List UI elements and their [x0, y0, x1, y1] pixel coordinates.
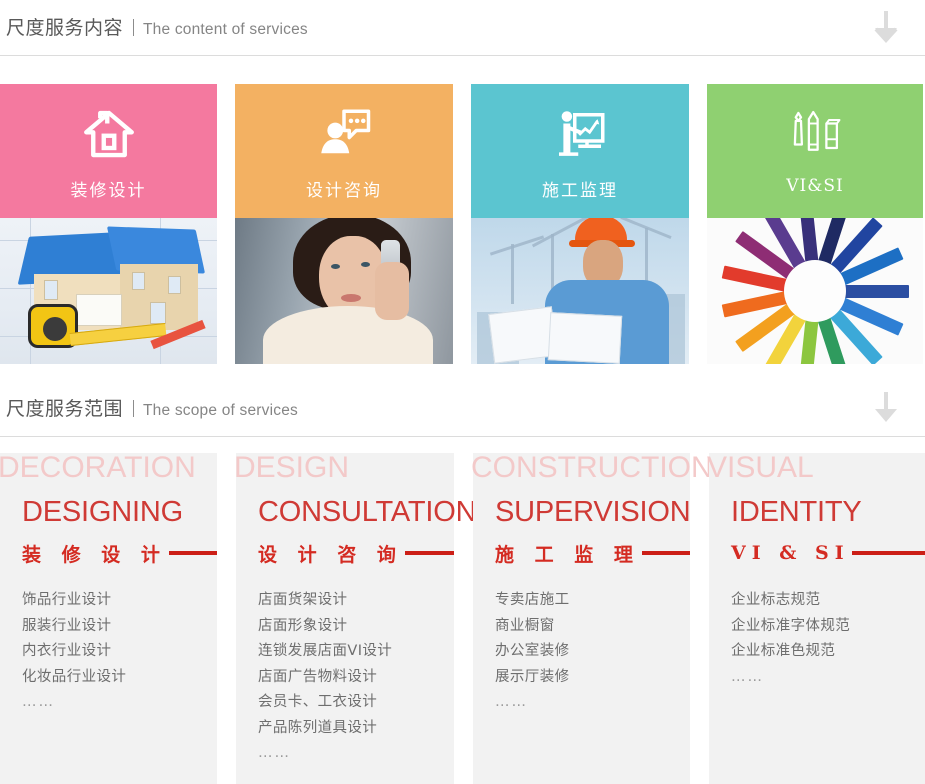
list-item: 企业标准色规范: [731, 639, 925, 665]
scope-title-en: DESIGNING: [22, 495, 217, 529]
title-divider: [133, 400, 134, 417]
card-header: 设计咨询: [235, 84, 453, 219]
list-item: 产品陈列道具设计: [258, 716, 454, 742]
card-photo-construction-worker: [471, 218, 689, 364]
presenter-chart-icon: [552, 106, 608, 162]
scope-item-list: 饰品行业设计 服装行业设计 内衣行业设计 化妆品行业设计 ……: [22, 588, 217, 716]
person-chat-icon: [316, 106, 372, 162]
title-underline-rule: [169, 551, 217, 555]
page-subtitle: The scope of services: [143, 383, 298, 439]
list-item-ellipsis: ……: [258, 741, 454, 767]
list-item: 企业标志规范: [731, 588, 925, 614]
house-icon: [81, 106, 137, 162]
scope-item-list: 企业标志规范 企业标准字体规范 企业标准色规范 ……: [731, 588, 925, 690]
card-header: 装修设计: [0, 84, 217, 219]
service-card-vi-si[interactable]: VI&SI: [707, 84, 923, 364]
list-item: 商业橱窗: [495, 614, 690, 640]
list-item: 专卖店施工: [495, 588, 690, 614]
service-card-design-consultation[interactable]: 设计咨询: [235, 84, 453, 364]
watermark-text: DECORATION: [0, 451, 196, 485]
card-label: 装修设计: [71, 176, 147, 201]
title-underline-rule: [642, 551, 690, 555]
card-label: 设计咨询: [306, 176, 382, 201]
list-item: 展示厅装修: [495, 665, 690, 691]
card-header: VI&SI: [707, 84, 923, 219]
scope-title-row: VI & SI: [731, 540, 925, 566]
scope-title-en: SUPERVISION: [495, 495, 690, 529]
service-card-list: 装修设计: [0, 84, 925, 364]
title-underline-rule: [852, 551, 925, 555]
service-card-decoration-design[interactable]: 装修设计: [0, 84, 217, 364]
scope-title-cn: VI & SI: [731, 542, 850, 564]
list-item: 连锁发展店面VI设计: [258, 639, 454, 665]
scope-column-consultation: DESIGN CONSULTATION 设 计 咨 询 店面货架设计 店面形象设…: [236, 453, 454, 784]
scope-title-row: 施 工 监 理: [495, 540, 690, 566]
list-item: 店面货架设计: [258, 588, 454, 614]
arrow-down-icon: [869, 390, 903, 428]
scope-item-list: 专卖店施工 商业橱窗 办公室装修 展示厅装修 ……: [495, 588, 690, 716]
list-item-ellipsis: ……: [731, 665, 925, 691]
pen-pencil-eraser-icon: [787, 106, 843, 162]
scope-title-en: IDENTITY: [731, 495, 925, 529]
page-subtitle: The content of services: [143, 2, 308, 58]
service-card-construction-supervision[interactable]: 施工监理: [471, 84, 689, 364]
list-item: 饰品行业设计: [22, 588, 217, 614]
scope-title-cn: 装 修 设 计: [22, 540, 167, 567]
card-photo-house-blueprint: [0, 218, 217, 364]
watermark-text: DESIGN: [234, 451, 349, 485]
scope-column-identity: VISUAL IDENTITY VI & SI 企业标志规范 企业标准字体规范 …: [709, 453, 925, 784]
arrow-down-icon: [869, 9, 903, 47]
card-header: 施工监理: [471, 84, 689, 219]
list-item-ellipsis: ……: [495, 690, 690, 716]
scope-title-row: 设 计 咨 询: [258, 540, 454, 566]
watermark-text: VISUAL: [707, 451, 814, 485]
list-item: 内衣行业设计: [22, 639, 217, 665]
card-label: 施工监理: [542, 176, 618, 201]
scope-column-designing: DECORATION DESIGNING 装 修 设 计 饰品行业设计 服装行业…: [0, 453, 217, 784]
page-title: 尺度服务范围: [6, 381, 123, 437]
section-header-content-of-services: 尺度服务内容 The content of services: [0, 0, 925, 56]
card-photo-businesswoman: [235, 218, 453, 364]
scope-title-cn: 设 计 咨 询: [258, 540, 403, 567]
scope-column-supervision: CONSTRUCTION SUPERVISION 施 工 监 理 专卖店施工 商…: [473, 453, 690, 784]
list-item: 店面广告物料设计: [258, 665, 454, 691]
list-item-ellipsis: ……: [22, 690, 217, 716]
card-photo-colored-pencils: [707, 218, 923, 364]
scope-item-list: 店面货架设计 店面形象设计 连锁发展店面VI设计 店面广告物料设计 会员卡、工衣…: [258, 588, 454, 767]
list-item: 企业标准字体规范: [731, 614, 925, 640]
scope-title-cn: 施 工 监 理: [495, 540, 640, 567]
scope-title-en: CONSULTATION: [258, 495, 454, 529]
watermark-text: CONSTRUCTION: [471, 451, 713, 485]
header-text-group: 尺度服务范围 The scope of services: [0, 381, 925, 436]
list-item: 办公室装修: [495, 639, 690, 665]
section-header-scope-of-services: 尺度服务范围 The scope of services: [0, 381, 925, 437]
title-divider: [133, 19, 134, 36]
title-underline-rule: [405, 551, 454, 555]
scope-column-list: DECORATION DESIGNING 装 修 设 计 饰品行业设计 服装行业…: [0, 453, 925, 784]
page-title: 尺度服务内容: [6, 0, 123, 56]
list-item: 会员卡、工衣设计: [258, 690, 454, 716]
service-page: 尺度服务内容 The content of services 装修设计: [0, 0, 925, 784]
card-label: VI&SI: [786, 176, 844, 196]
list-item: 化妆品行业设计: [22, 665, 217, 691]
scope-title-row: 装 修 设 计: [22, 540, 217, 566]
list-item: 服装行业设计: [22, 614, 217, 640]
header-text-group: 尺度服务内容 The content of services: [0, 0, 925, 55]
list-item: 店面形象设计: [258, 614, 454, 640]
